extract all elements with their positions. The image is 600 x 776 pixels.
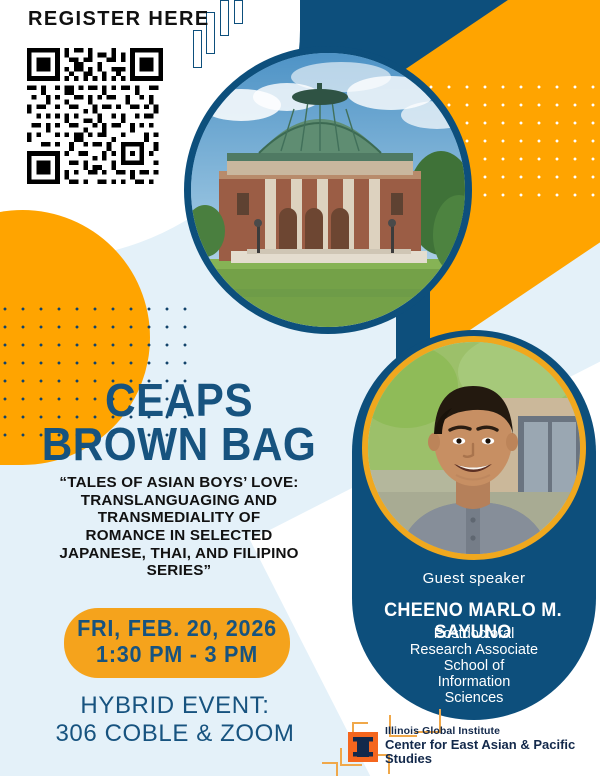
page-title: CEAPS BROWN BAG bbox=[18, 378, 340, 466]
event-format: HYBRID EVENT: bbox=[10, 692, 340, 720]
guest-speaker-label: Guest speaker bbox=[352, 570, 596, 587]
talk-title-line: “TALES OF ASIAN BOYS’ LOVE: bbox=[14, 474, 344, 492]
organization-logo: Illinois Global Institute Center for Eas… bbox=[348, 726, 600, 767]
logo-institute-name: Illinois Global Institute bbox=[385, 726, 600, 738]
talk-title-line: JAPANESE, THAI, AND FILIPINO bbox=[14, 545, 344, 563]
speaker-affiliation-line: Postdoctoral bbox=[352, 627, 596, 643]
talk-title-line: TRANSMEDIALITY OF bbox=[14, 509, 344, 527]
speaker-affiliation-line: Research Associate bbox=[352, 643, 596, 659]
title-line-2: BROWN BAG bbox=[31, 422, 327, 466]
speaker-affiliation: Postdoctoral Research Associate School o… bbox=[352, 627, 596, 707]
decor-vertical-line bbox=[234, 0, 243, 24]
event-time: 1:30 PM - 3 PM bbox=[71, 642, 283, 668]
talk-title-line: TRANSLANGUAGING AND bbox=[14, 492, 344, 510]
illinois-block-i-icon bbox=[348, 732, 378, 762]
event-room: 306 COBLE & ZOOM bbox=[10, 720, 340, 748]
event-poster: REGISTER HERE CEAPS BROWN BAG “TALES OF … bbox=[0, 0, 600, 776]
logo-text: Illinois Global Institute Center for Eas… bbox=[385, 726, 600, 767]
foellinger-auditorium-illustration bbox=[191, 53, 471, 333]
decor-vertical-line bbox=[193, 30, 202, 68]
event-date-badge: FRI, FEB. 20, 2026 1:30 PM - 3 PM bbox=[64, 608, 290, 678]
logo-center-name: Center for East Asian & Pacific Studies bbox=[385, 738, 600, 768]
talk-title-line: ROMANCE IN SELECTED bbox=[14, 527, 344, 545]
decor-vertical-line bbox=[220, 0, 229, 36]
building-photo bbox=[184, 46, 472, 334]
qr-code-graphic bbox=[27, 48, 163, 184]
speaker-portrait-illustration bbox=[368, 342, 580, 554]
speaker-affiliation-line: School of bbox=[352, 659, 596, 675]
event-location: HYBRID EVENT: 306 COBLE & ZOOM bbox=[10, 692, 340, 749]
register-here-label: REGISTER HERE bbox=[28, 8, 210, 31]
decor-bracket bbox=[322, 762, 338, 776]
speaker-affiliation-line: Sciences bbox=[352, 691, 596, 707]
event-date: FRI, FEB. 20, 2026 bbox=[71, 616, 283, 642]
qr-code[interactable] bbox=[27, 48, 163, 184]
speaker-photo bbox=[362, 336, 586, 560]
talk-title-line: SERIES” bbox=[14, 562, 344, 580]
title-line-1: CEAPS bbox=[31, 378, 327, 422]
talk-title: “TALES OF ASIAN BOYS’ LOVE: TRANSLANGUAG… bbox=[14, 474, 344, 580]
speaker-affiliation-line: Information bbox=[352, 675, 596, 691]
